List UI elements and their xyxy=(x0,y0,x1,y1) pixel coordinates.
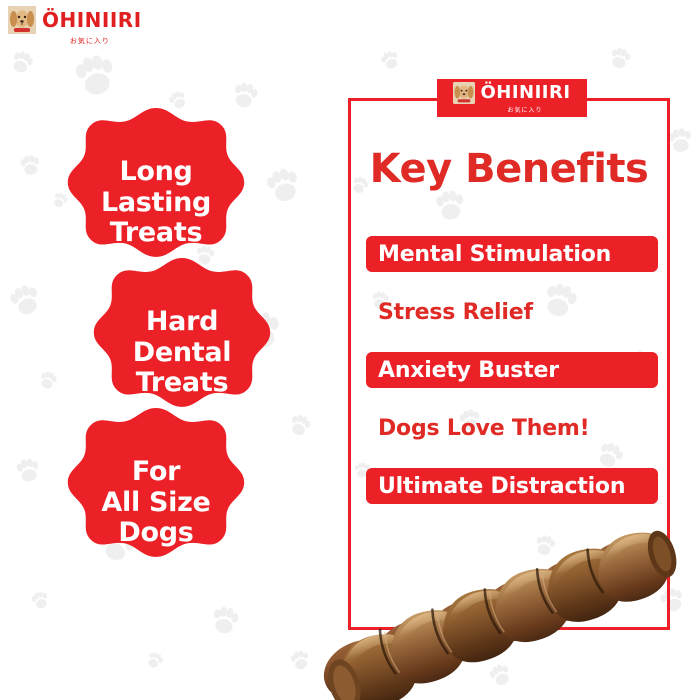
benefit-item: Stress Relief xyxy=(366,294,658,330)
dog-photo-icon xyxy=(453,82,475,104)
dog-photo-icon xyxy=(8,6,36,34)
feature-badge-column: Long Lasting Treats Hard Dental Treats F… xyxy=(0,105,300,575)
brand-logo-header: ÖHINIIRI お気に入り xyxy=(8,6,142,46)
brand-subtext: お気に入り xyxy=(507,105,542,114)
brand-subtext: お気に入り xyxy=(70,36,110,46)
brand-logo-row: ÖHINIIRI xyxy=(8,6,142,34)
brand-wordmark: ÖHINIIRI xyxy=(42,10,142,30)
feature-badge-label: For All Size Dogs xyxy=(58,405,254,601)
product-image-braided-chew xyxy=(300,520,700,700)
benefit-item: Ultimate Distraction xyxy=(366,468,658,504)
feature-badge: For All Size Dogs xyxy=(58,405,254,601)
benefit-item: Dogs Love Them! xyxy=(366,410,658,446)
benefit-item: Mental Stimulation xyxy=(366,236,658,272)
benefit-item: Anxiety Buster xyxy=(366,352,658,388)
benefits-list: Mental Stimulation Stress Relief Anxiety… xyxy=(366,236,658,526)
brand-logo-banner: ÖHINIIRI お気に入り xyxy=(437,79,587,117)
banner-logo-row: ÖHINIIRI xyxy=(453,82,570,104)
benefits-title: Key Benefits xyxy=(348,146,670,192)
brand-wordmark: ÖHINIIRI xyxy=(480,84,570,102)
